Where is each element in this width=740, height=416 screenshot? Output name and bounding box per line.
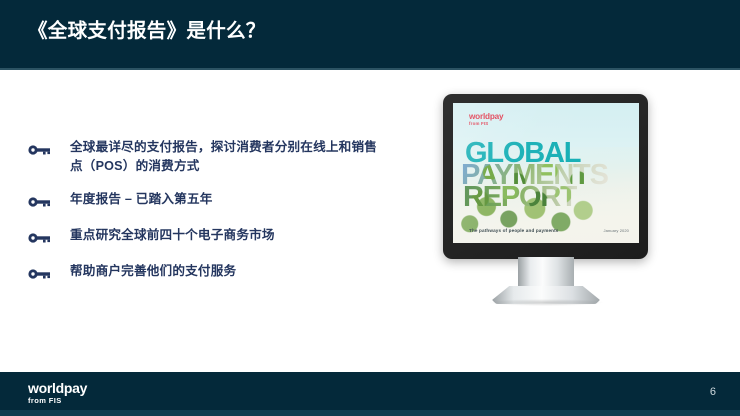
header-accent-line [0, 68, 740, 70]
footer-bottom-strip [0, 410, 740, 416]
page-title: 《全球支付报告》是什么？ [28, 14, 266, 43]
monitor-illustration: worldpay from FIS GLOBAL PAYMENTS REPORT… [437, 90, 667, 305]
page-number: 6 [710, 386, 716, 398]
cover-logo-primary: worldpay [469, 113, 503, 121]
bullet-list: 全球最详尽的支付报告，探讨消费者分别在线上和销售点（POS）的消费方式 年度报告… [28, 138, 388, 298]
key-icon [28, 264, 54, 284]
cover-tagline: The pathways of people and payments [469, 228, 559, 233]
monitor-bezel: worldpay from FIS GLOBAL PAYMENTS REPORT… [443, 94, 648, 259]
footer-band [0, 372, 740, 410]
key-icon [28, 228, 54, 248]
monitor-shadow [489, 299, 603, 306]
cover-logo-secondary: from FIS [469, 122, 503, 126]
cover-title-word-report: REPORT [463, 183, 577, 212]
key-icon [28, 140, 54, 160]
list-item-text: 帮助商户完善他们的支付服务 [70, 262, 388, 281]
report-cover-image: worldpay from FIS GLOBAL PAYMENTS REPORT… [453, 103, 639, 243]
footer-logo-secondary: from FIS [28, 397, 87, 405]
list-item-text: 重点研究全球前四十个电子商务市场 [70, 226, 388, 245]
key-icon [28, 192, 54, 212]
footer-logo-primary: worldpay [28, 381, 87, 395]
list-item: 全球最详尽的支付报告，探讨消费者分别在线上和销售点（POS）的消费方式 [28, 138, 388, 176]
monitor-stand-neck [518, 257, 574, 289]
list-item: 帮助商户完善他们的支付服务 [28, 262, 388, 284]
list-item-text: 年度报告 – 已踏入第五年 [70, 190, 388, 209]
cover-worldpay-logo: worldpay from FIS [469, 113, 503, 127]
footer-worldpay-logo: worldpay from FIS [28, 381, 87, 405]
cover-date: January 2020 [604, 228, 629, 233]
list-item-text: 全球最详尽的支付报告，探讨消费者分别在线上和销售点（POS）的消费方式 [70, 138, 388, 176]
list-item: 重点研究全球前四十个电子商务市场 [28, 226, 388, 248]
list-item: 年度报告 – 已踏入第五年 [28, 190, 388, 212]
slide: 《全球支付报告》是什么？ 全球最详尽的支付报告，探讨消费者分别在线上和销售点（P… [0, 0, 740, 416]
monitor-screen: worldpay from FIS GLOBAL PAYMENTS REPORT… [453, 103, 639, 243]
